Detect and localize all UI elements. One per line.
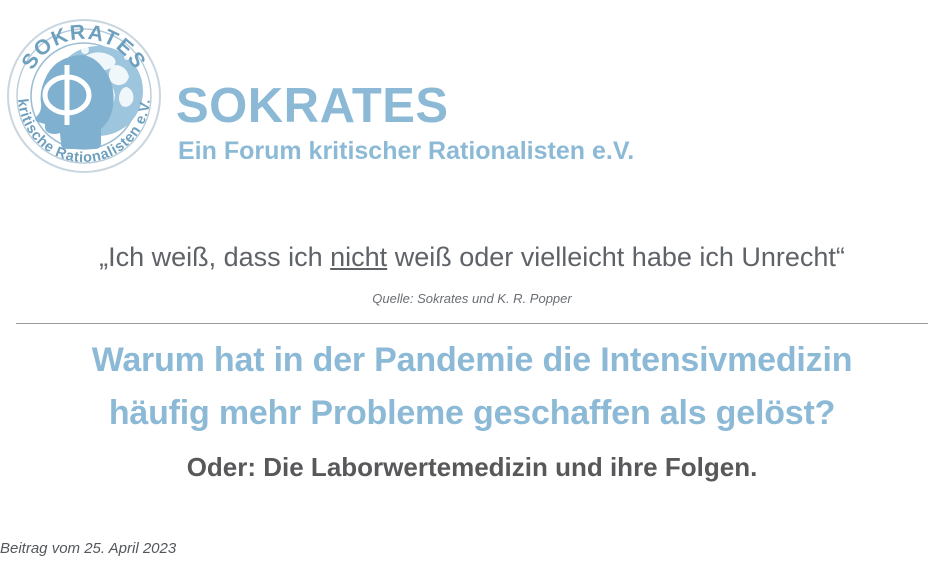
quote-open-mark: „: [99, 242, 108, 272]
motto-quote: „Ich weiß, dass ich nicht weiß oder viel…: [0, 241, 944, 273]
brand-subtitle: Ein Forum kritischer Rationalisten e.V.: [178, 138, 876, 166]
quote-text-before: Ich weiß, dass ich: [108, 242, 330, 272]
page-header: SOKRATES kritische Rationalisten e.V. SO…: [0, 0, 944, 200]
article-subheadline: Oder: Die Laborwertemedizin und ihre Fol…: [0, 452, 944, 483]
quote-source: Quelle: Sokrates und K. R. Popper: [0, 291, 944, 306]
article-headline: Warum hat in der Pandemie die Intensivme…: [0, 334, 944, 439]
quote-emphasis-nicht: nicht: [330, 242, 387, 272]
brand-block: SOKRATES Ein Forum kritischer Rationalis…: [176, 82, 876, 165]
sokrates-seal-logo-icon[interactable]: SOKRATES kritische Rationalisten e.V.: [5, 17, 163, 175]
brand-title: SOKRATES: [176, 82, 876, 132]
headline-line-2: häufig mehr Probleme geschaffen als gelö…: [0, 387, 944, 440]
quote-close-mark: “: [836, 242, 845, 272]
section-divider: [16, 323, 928, 324]
headline-line-1: Warum hat in der Pandemie die Intensivme…: [0, 334, 944, 387]
post-date: Beitrag vom 25. April 2023: [0, 540, 176, 557]
quote-text-after: weiß oder vielleicht habe ich Unrecht: [387, 242, 836, 272]
